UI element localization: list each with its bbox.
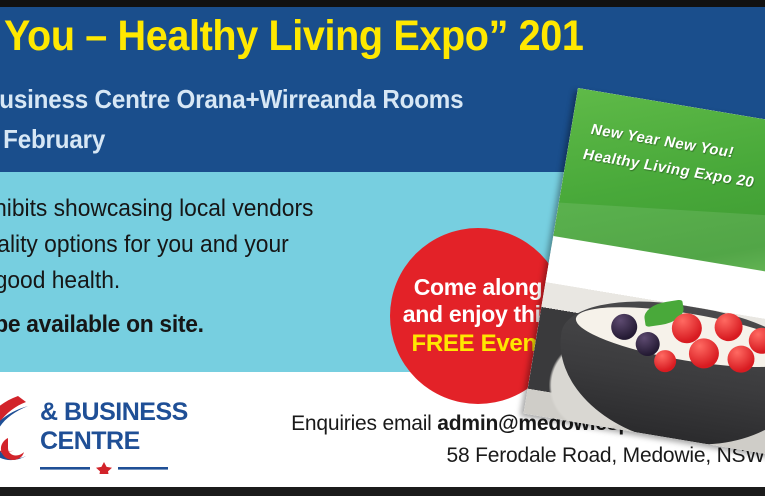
logo-star-divider-icon [40, 462, 168, 474]
body-line-3: good health. [0, 263, 417, 299]
body-line-4: ill be available on site. [0, 307, 417, 343]
logo-line-2: CENTRE [40, 427, 188, 456]
top-rule-divider [0, 0, 765, 7]
body-copy-block: exhibits showcasing local vendors qualit… [0, 191, 417, 343]
venue-line: Business Centre Orana+Wirreanda Rooms [0, 84, 463, 115]
logo-swoosh-icon [0, 394, 34, 472]
page-title: ew You – Healthy Living Expo” 201 [0, 14, 765, 59]
badge-line-1: Come along [414, 274, 543, 301]
date-line: h February [0, 124, 105, 155]
badge-line-3-free: FREE Event [411, 330, 544, 358]
bottom-rule-divider [0, 487, 765, 496]
email-label: Enquiries email [291, 412, 437, 435]
body-line-2: quality options for you and your [0, 227, 417, 263]
body-line-1: exhibits showcasing local vendors [0, 191, 417, 227]
sports-and-business-centre-logo: & BUSINESS CENTRE [0, 392, 178, 478]
badge-line-2: and enjoy this [403, 301, 553, 328]
logo-line-1: & BUSINESS [40, 398, 188, 427]
logo-wordmark: & BUSINESS CENTRE [40, 398, 188, 456]
expo-flyer-poster: ew You – Healthy Living Expo” 201 Busine… [0, 0, 765, 496]
